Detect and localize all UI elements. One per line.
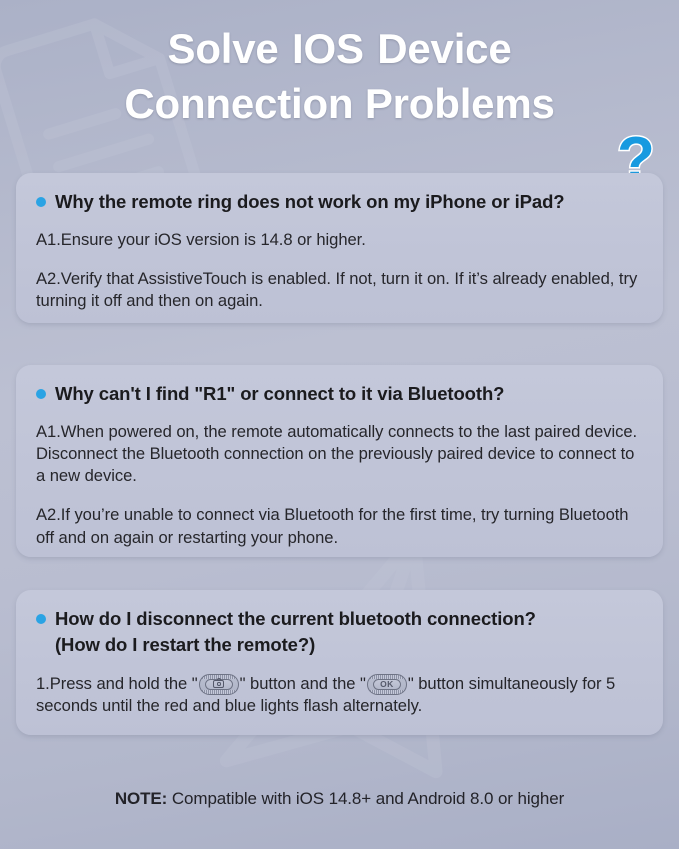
faq-question-row: Why can't I find "R1" or connect to it v… — [36, 381, 643, 407]
faq-card-1: Why the remote ring does not work on my … — [16, 173, 663, 323]
note-label: NOTE: — [115, 789, 167, 808]
camera-icon — [213, 680, 224, 688]
step-middle: " button and the " — [240, 674, 366, 693]
step-prefix: 1.Press and hold the " — [36, 674, 198, 693]
faq-question-2: Why can't I find "R1" or connect to it v… — [55, 381, 504, 407]
bullet-icon — [36, 197, 46, 207]
note-text: Compatible with iOS 14.8+ and Android 8.… — [167, 789, 564, 808]
camera-button-icon — [199, 674, 239, 695]
ok-button-icon: OK — [367, 674, 407, 695]
bullet-icon — [36, 614, 46, 624]
poster-title: Solve IOS Device Connection Problems — [0, 22, 679, 131]
compatibility-note: NOTE: Compatible with iOS 14.8+ and Andr… — [0, 789, 679, 809]
title-line-1: Solve IOS Device — [0, 22, 679, 77]
faq-answer-1-1: A1.Ensure your iOS version is 14.8 or hi… — [36, 229, 643, 251]
faq-question-row: Why the remote ring does not work on my … — [36, 189, 643, 215]
ok-button-inner: OK — [373, 679, 401, 690]
faq-question-3: How do I disconnect the current bluetoot… — [55, 606, 536, 659]
ok-button-label: OK — [380, 680, 393, 689]
faq-answer-2-2: A2.If you’re unable to connect via Bluet… — [36, 504, 643, 548]
faq-question-3-line-1: How do I disconnect the current bluetoot… — [55, 606, 536, 632]
faq-answer-3-step: 1.Press and hold the "" button and the "… — [36, 673, 643, 717]
faq-question-row: How do I disconnect the current bluetoot… — [36, 606, 643, 659]
faq-poster: Solve IOS Device Connection Problems ? W… — [0, 0, 679, 849]
bullet-icon — [36, 389, 46, 399]
faq-answer-2-1: A1.When powered on, the remote automatic… — [36, 421, 643, 487]
title-highlight-ios: IOS — [290, 22, 366, 77]
faq-question-3-line-2: (How do I restart the remote?) — [55, 632, 536, 658]
faq-card-3: How do I disconnect the current bluetoot… — [16, 590, 663, 735]
title-prefix: Solve — [168, 25, 291, 72]
camera-button-inner — [205, 679, 233, 690]
title-highlight-text: IOS — [292, 25, 364, 72]
faq-question-1: Why the remote ring does not work on my … — [55, 189, 564, 215]
title-suffix: Device — [366, 25, 512, 72]
faq-answer-1-2: A2.Verify that AssistiveTouch is enabled… — [36, 268, 643, 312]
title-line-2: Connection Problems — [0, 77, 679, 132]
faq-card-2: Why can't I find "R1" or connect to it v… — [16, 365, 663, 557]
